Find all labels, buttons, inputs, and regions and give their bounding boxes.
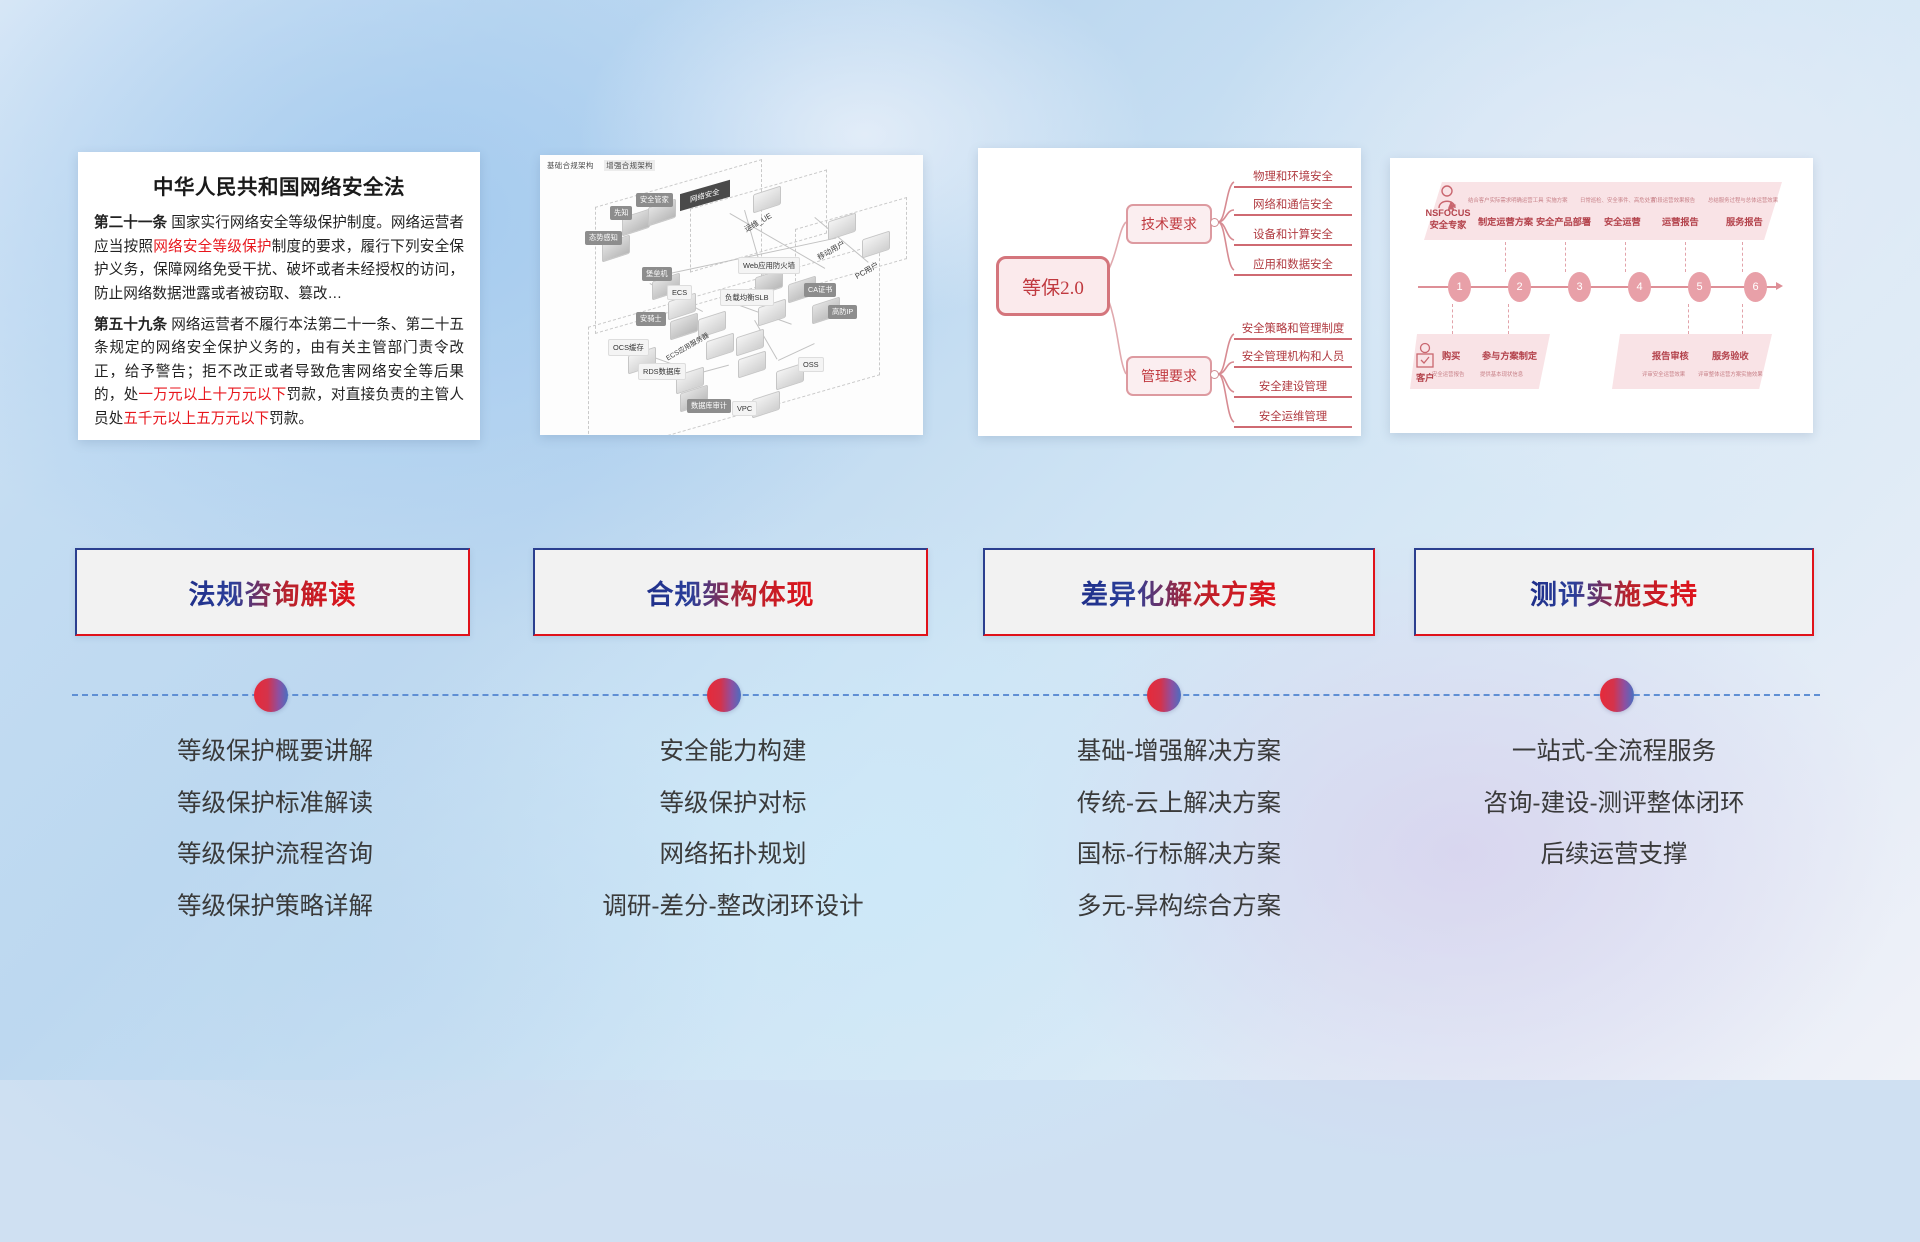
nsfocus-axis (1418, 286, 1778, 288)
node-label-xianzhi: 先知 (610, 206, 632, 220)
nsfocus-bottom-label-3: 服务验收 (1712, 348, 1749, 362)
list-item: 传统-云上解决方案 (983, 792, 1375, 817)
mindmap-leaf-tech-0: 物理和环境安全 (1234, 168, 1352, 188)
list-item: 国标-行标解决方案 (983, 843, 1375, 868)
nsfocus-step-3: 3 (1568, 272, 1591, 302)
node-label-ocs: OCS缓存 (608, 339, 649, 356)
mindmap-collapse-dot-tech[interactable] (1210, 218, 1219, 227)
law-paragraph-1: 第二十一条 国家实行网络安全等级保护制度。网络运营者应当按照网络安全等级保护制度… (94, 212, 464, 307)
nsfocus-bottom-label-0: 购买 (1442, 348, 1460, 362)
section-title-label-1: 合规架构体现 (647, 573, 815, 612)
law-highlight-text: 五千元以上五万元以下 (123, 411, 269, 427)
section-title-box-3[interactable]: 测评实施支持 (1414, 548, 1814, 636)
node-label-slb: 负载均衡SLB (720, 289, 774, 306)
list-item: 等级保护策略详解 (75, 895, 475, 920)
section-title-label-2: 差异化解决方案 (1081, 573, 1277, 612)
mindmap-leaf-tech-2: 设备和计算安全 (1234, 226, 1352, 246)
node-label-ecs: ECS (667, 285, 692, 300)
law-body-text: 罚款。 (269, 411, 313, 427)
node-label-rds: RDS数据库 (638, 363, 686, 380)
nsfocus-step-4: 4 (1628, 272, 1651, 302)
mindmap-leaf-mgmt-3: 安全运维管理 (1234, 408, 1352, 428)
architecture-tab-basic[interactable]: 基础合规架构 (547, 161, 594, 170)
section-title-box-2[interactable]: 差异化解决方案 (983, 548, 1375, 636)
list-item: 等级保护流程咨询 (75, 843, 475, 868)
node-label-ca: CA证书 (804, 283, 836, 297)
mindmap-leaf-mgmt-1: 安全管理机构和人员 (1234, 348, 1352, 368)
section-title-box-1[interactable]: 合规架构体现 (533, 548, 928, 636)
mindmap-leaf-tech-3: 应用和数据安全 (1234, 256, 1352, 276)
architecture-tabs: 基础合规架构 增强合规架构 (547, 160, 663, 171)
nsfocus-bottom-sub-3: 评审整体运营方案实施效果 (1698, 370, 1763, 378)
nsfocus-step-1: 1 (1448, 272, 1471, 302)
nsfocus-top-sub-4: 总结服务过程与总体运营效果 (1708, 196, 1778, 204)
nsfocus-step-6: 6 (1744, 272, 1767, 302)
mindmap-collapse-dot-mgmt[interactable] (1210, 370, 1219, 379)
mindmap-branch-mgmt: 管理要求 (1126, 356, 1212, 396)
list-item: 一站式-全流程服务 (1414, 740, 1814, 765)
mindmap-leaf-mgmt-2: 安全建设管理 (1234, 378, 1352, 398)
law-highlight-text: 一万元以上十万元以下 (138, 387, 286, 403)
nsfocus-top-sub-3: 阶段运营效果报告 (1652, 196, 1695, 204)
mindmap-root-node: 等保2.0 (996, 256, 1110, 316)
node-label-vpc: VPC (732, 401, 757, 416)
nsfocus-axis-arrow (1776, 282, 1783, 290)
list-item: 基础-增强解决方案 (983, 740, 1375, 765)
nsfocus-top-label-2: 安全运营 (1604, 214, 1641, 228)
customer-icon (1414, 342, 1436, 368)
nsfocus-top-label-1: 安全产品部署 (1536, 214, 1591, 228)
mindmap-leaf-mgmt-0: 安全策略和管理制度 (1234, 320, 1352, 340)
nsfocus-process-card: NSFOCUS安全专家 客户 1 2 3 4 5 6 结合 (1390, 158, 1813, 433)
nsfocus-top-label-0: 制定运营方案 (1478, 214, 1533, 228)
architecture-diagram-card: 基础合规架构 增强合规架构 网络安全 先知 态势感知 安全管家 (540, 155, 923, 435)
node-label-security-steward: 安全管家 (636, 193, 673, 207)
list-item: 安全能力构建 (533, 740, 933, 765)
node-label-anti-ddos: 高防IP (828, 305, 857, 319)
nsfocus-top-label-4: 服务报告 (1726, 214, 1763, 228)
list-item: 网络拓扑规划 (533, 843, 933, 868)
law-text-card: 中华人民共和国网络安全法 第二十一条 国家实行网络安全等级保护制度。网络运营者应… (78, 152, 480, 440)
feature-list-2: 基础-增强解决方案 传统-云上解决方案 国标-行标解决方案 多元-异构综合方案 (983, 740, 1375, 946)
nsfocus-step-5: 5 (1688, 272, 1711, 302)
feature-list-1: 安全能力构建 等级保护对标 网络拓扑规划 调研-差分-整改闭环设计 (533, 740, 933, 946)
nsfocus-step-2: 2 (1508, 272, 1531, 302)
list-item: 咨询-建设-测评整体闭环 (1414, 792, 1814, 817)
node-label-situation: 态势感知 (585, 231, 622, 245)
nsfocus-top-sub-0: 结合客户实际需求明确运营工具 (1468, 196, 1543, 204)
law-highlight-text: 网络安全等级保护 (153, 239, 271, 255)
law-article-number: 第五十九条 (94, 317, 167, 333)
architecture-tab-enhanced[interactable]: 增强合规架构 (604, 160, 655, 171)
nsfocus-top-band (1424, 182, 1782, 240)
mindmap-card: 等保2.0 技术要求 物理和环境安全 网络和通信安全 设备和计算安全 应用和数据… (978, 148, 1361, 436)
feature-list-0: 等级保护概要讲解 等级保护标准解读 等级保护流程咨询 等级保护策略详解 (75, 740, 475, 946)
nsfocus-bottom-sub-1: 提供基本现状信息 (1480, 370, 1523, 378)
nsfocus-bottom-label-1: 参与方案制定 (1482, 348, 1537, 362)
list-item: 多元-异构综合方案 (983, 895, 1375, 920)
law-article-number: 第二十一条 (94, 215, 167, 231)
nsfocus-bottom-sub-0: 安全运营报告 (1432, 370, 1464, 378)
timeline-dot-1[interactable] (707, 678, 741, 712)
timeline-dot-2[interactable] (1147, 678, 1181, 712)
list-item: 等级保护对标 (533, 792, 933, 817)
nsfocus-bottom-label-2: 报告审核 (1652, 348, 1689, 362)
list-item: 调研-差分-整改闭环设计 (533, 895, 933, 920)
node-label-bastion: 堡垒机 (642, 267, 672, 281)
mindmap-leaf-tech-1: 网络和通信安全 (1234, 196, 1352, 216)
nsfocus-top-label-3: 运营报告 (1662, 214, 1699, 228)
section-title-label-0: 法规咨询解读 (189, 573, 357, 612)
list-item: 等级保护概要讲解 (75, 740, 475, 765)
timeline-dot-3[interactable] (1600, 678, 1634, 712)
feature-list-3: 一站式-全流程服务 咨询-建设-测评整体闭环 后续运营支撑 (1414, 740, 1814, 895)
node-label-db-audit: 数据库审计 (687, 399, 731, 413)
expert-icon (1434, 184, 1460, 210)
law-card-title: 中华人民共和国网络安全法 (94, 170, 464, 200)
timeline-dot-0[interactable] (254, 678, 288, 712)
nsfocus-top-sub-1: 实施方案 (1546, 196, 1568, 204)
node-label-waf: Web应用防火墙 (738, 257, 800, 274)
mindmap-branch-tech: 技术要求 (1126, 204, 1212, 244)
section-title-box-0[interactable]: 法规咨询解读 (75, 548, 470, 636)
list-item: 后续运营支撑 (1414, 843, 1814, 868)
node-label-oss: OSS (798, 357, 824, 372)
law-paragraph-2: 第五十九条 网络运营者不履行本法第二十一条、第二十五条规定的网络安全保护义务的，… (94, 314, 464, 432)
nsfocus-bottom-sub-2: 评审安全运营效果 (1642, 370, 1685, 378)
list-item: 等级保护标准解读 (75, 792, 475, 817)
nsfocus-top-sub-2: 日常巡检、安全事件、高危处置 (1580, 196, 1655, 204)
section-title-label-3: 测评实施支持 (1530, 573, 1698, 612)
node-label-anqishi: 安骑士 (636, 312, 666, 326)
timeline-dashed-line (72, 694, 1820, 696)
nsfocus-expert-label: NSFOCUS安全专家 (1422, 208, 1474, 231)
